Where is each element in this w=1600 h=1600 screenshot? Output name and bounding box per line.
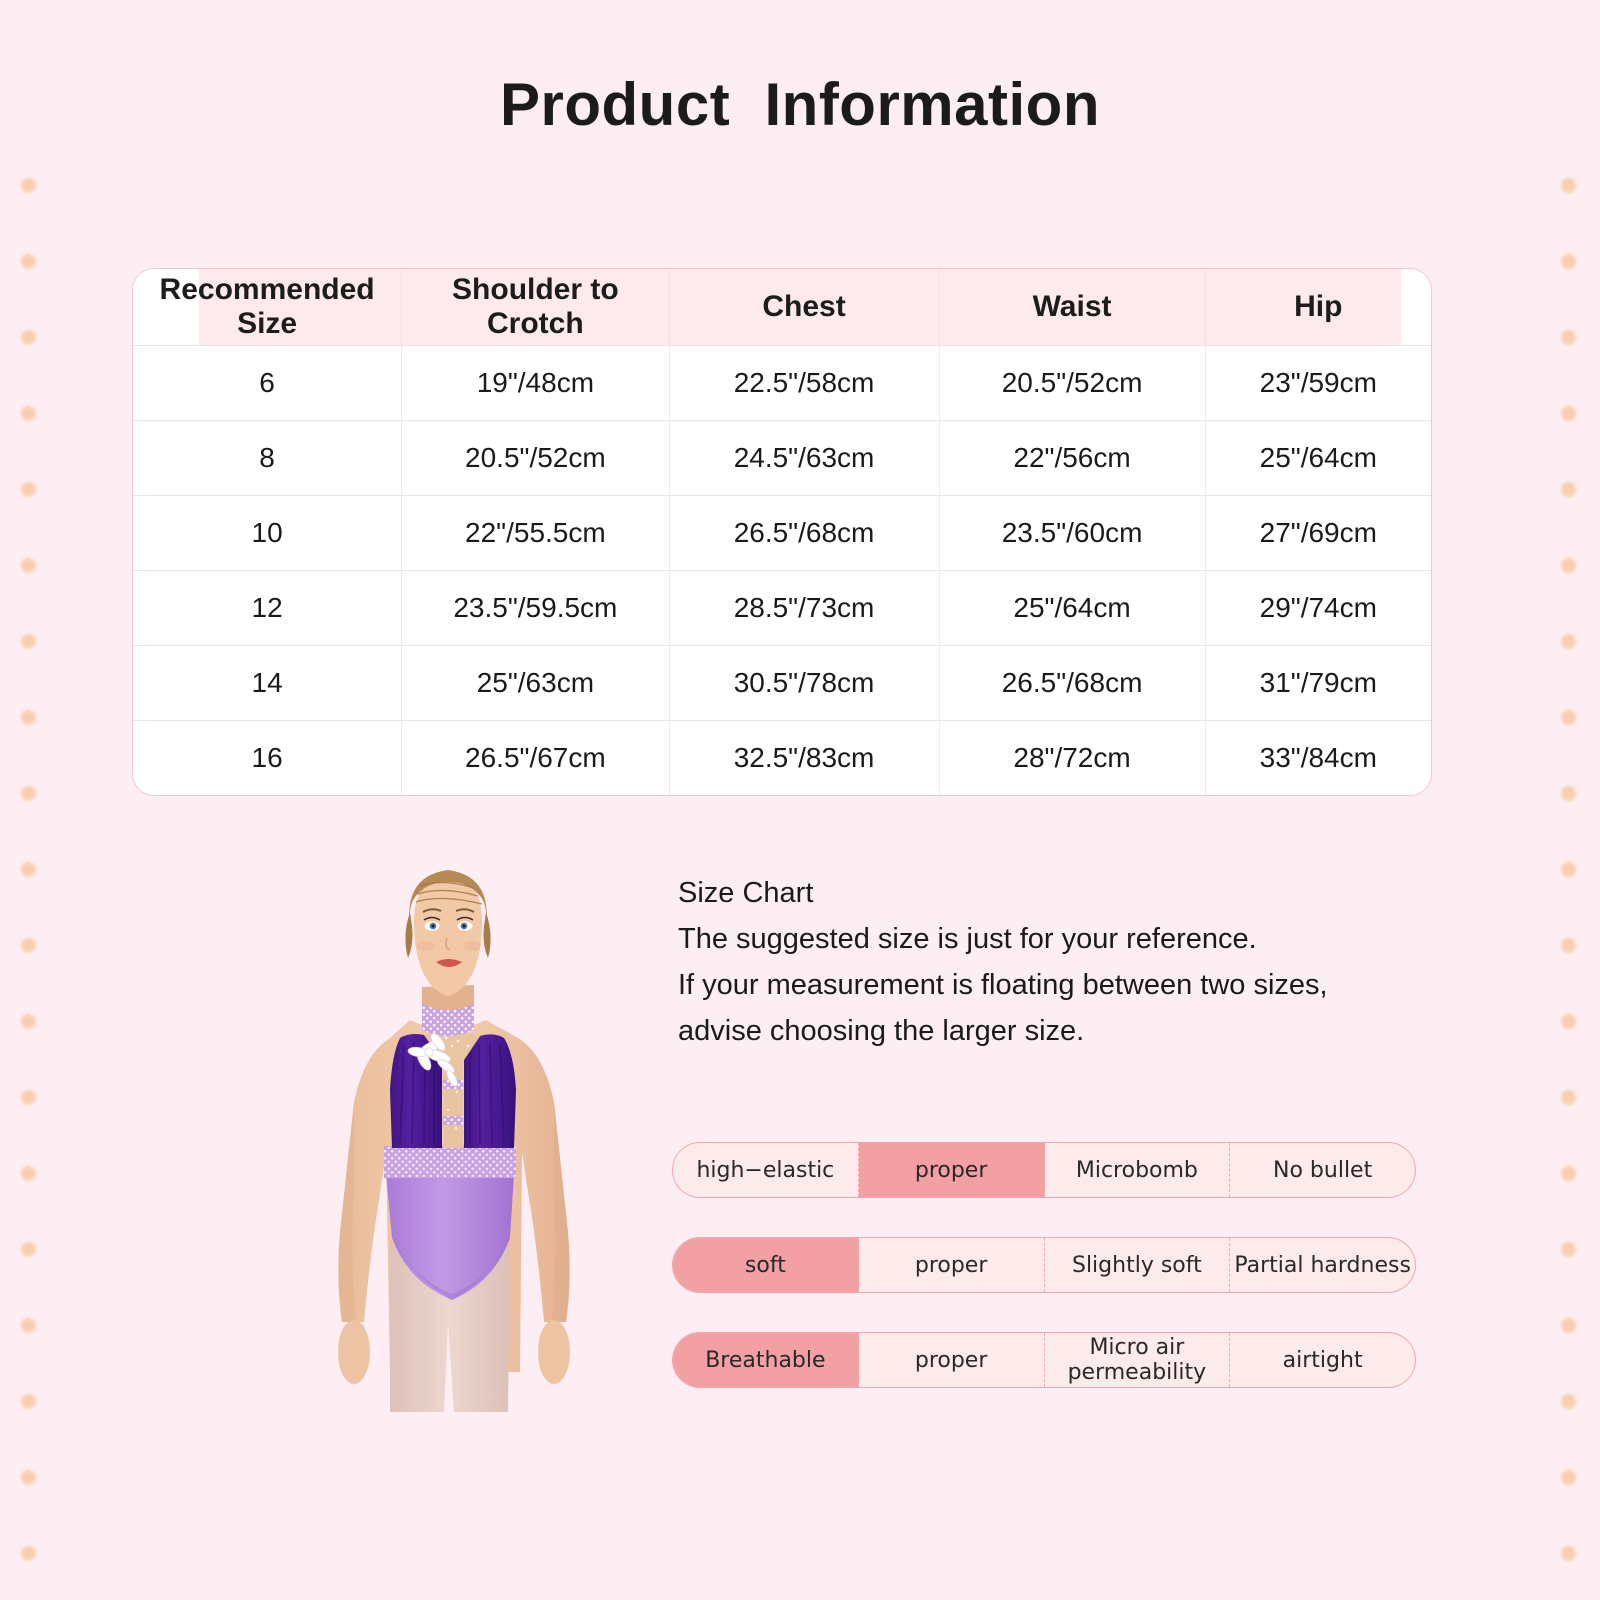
cell-size: 6	[133, 345, 402, 420]
decorative-dot	[21, 1014, 36, 1029]
cell-hip: 23"/59cm	[1205, 345, 1431, 420]
column-header-hip: Hip	[1205, 269, 1431, 345]
cell-shoulder: 19"/48cm	[402, 345, 669, 420]
decorative-dot	[1561, 1470, 1576, 1485]
property-row-elasticity: high−elastic proper Microbomb No bullet	[672, 1142, 1416, 1198]
cell-chest: 22.5"/58cm	[669, 345, 939, 420]
cell-waist: 23.5"/60cm	[939, 495, 1205, 570]
decorative-dot	[21, 558, 36, 573]
size-table: Recommended Size Shoulder to Crotch Ches…	[133, 269, 1431, 795]
cell-hip: 27"/69cm	[1205, 495, 1431, 570]
decorative-dot	[1561, 1546, 1576, 1561]
cell-waist: 25"/64cm	[939, 570, 1205, 645]
cell-shoulder: 26.5"/67cm	[402, 720, 669, 795]
cell-hip: 25"/64cm	[1205, 420, 1431, 495]
decorative-dot-rail-right	[1540, 0, 1600, 1600]
decorative-dot	[1561, 786, 1576, 801]
decorative-dot	[1561, 938, 1576, 953]
size-table-header: Recommended Size Shoulder to Crotch Ches…	[133, 269, 1431, 345]
decorative-dot	[21, 482, 36, 497]
property-segment-microbomb[interactable]: Microbomb	[1045, 1143, 1231, 1197]
decorative-dot	[1561, 558, 1576, 573]
cell-chest: 30.5"/78cm	[669, 645, 939, 720]
model-photo	[282, 852, 622, 1412]
decorative-dot	[1561, 254, 1576, 269]
decorative-dot	[21, 254, 36, 269]
decorative-dot	[21, 1546, 36, 1561]
cell-waist: 22"/56cm	[939, 420, 1205, 495]
cell-chest: 26.5"/68cm	[669, 495, 939, 570]
table-row: 16 26.5"/67cm 32.5"/83cm 28"/72cm 33"/84…	[133, 720, 1431, 795]
decorative-dot	[21, 1470, 36, 1485]
decorative-dot	[1561, 330, 1576, 345]
column-header-recommended-size: Recommended Size	[133, 269, 402, 345]
cell-size: 10	[133, 495, 402, 570]
property-segment-high-elastic[interactable]: high−elastic	[673, 1143, 859, 1197]
decorative-dot-rail-left	[0, 0, 60, 1600]
table-row: 14 25"/63cm 30.5"/78cm 26.5"/68cm 31"/79…	[133, 645, 1431, 720]
cell-hip: 29"/74cm	[1205, 570, 1431, 645]
table-row: 12 23.5"/59.5cm 28.5"/73cm 25"/64cm 29"/…	[133, 570, 1431, 645]
decorative-dot	[21, 406, 36, 421]
cell-shoulder: 25"/63cm	[402, 645, 669, 720]
decorative-dot	[1561, 482, 1576, 497]
property-segment-slightly-soft[interactable]: Slightly soft	[1045, 1238, 1231, 1292]
size-chart-note-line-2: If your measurement is floating between …	[678, 962, 1438, 1008]
property-segment-soft[interactable]: soft	[673, 1238, 859, 1292]
size-table-body: 6 19"/48cm 22.5"/58cm 20.5"/52cm 23"/59c…	[133, 345, 1431, 795]
table-row: 10 22"/55.5cm 26.5"/68cm 23.5"/60cm 27"/…	[133, 495, 1431, 570]
decorative-dot	[21, 1242, 36, 1257]
decorative-dot	[21, 330, 36, 345]
cell-waist: 28"/72cm	[939, 720, 1205, 795]
decorative-dot	[1561, 634, 1576, 649]
property-segment-no-bullet[interactable]: No bullet	[1230, 1143, 1415, 1197]
cell-size: 8	[133, 420, 402, 495]
size-chart-note-line-3: advise choosing the larger size.	[678, 1008, 1438, 1054]
decorative-dot	[21, 862, 36, 877]
size-table-container: Recommended Size Shoulder to Crotch Ches…	[132, 268, 1432, 796]
property-segment-proper[interactable]: proper	[859, 1333, 1045, 1387]
decorative-dot	[1561, 1166, 1576, 1181]
column-header-waist: Waist	[939, 269, 1205, 345]
column-header-shoulder-to-crotch: Shoulder to Crotch	[402, 269, 669, 345]
property-segment-micro-air-permeability[interactable]: Micro air permeability	[1045, 1333, 1231, 1387]
decorative-dot	[21, 178, 36, 193]
decorative-dot	[1561, 1014, 1576, 1029]
table-row: 8 20.5"/52cm 24.5"/63cm 22"/56cm 25"/64c…	[133, 420, 1431, 495]
decorative-dot	[1561, 178, 1576, 193]
size-chart-info: Size Chart The suggested size is just fo…	[678, 870, 1438, 1054]
decorative-dot	[21, 938, 36, 953]
product-information-page: Product Information Recommended Size Sho…	[0, 0, 1600, 1600]
cell-waist: 20.5"/52cm	[939, 345, 1205, 420]
table-header-row: Recommended Size Shoulder to Crotch Ches…	[133, 269, 1431, 345]
property-segment-breathable[interactable]: Breathable	[673, 1333, 859, 1387]
size-chart-note-line-1: The suggested size is just for your refe…	[678, 916, 1438, 962]
cell-chest: 32.5"/83cm	[669, 720, 939, 795]
decorative-dot	[21, 710, 36, 725]
decorative-dot	[21, 1394, 36, 1409]
decorative-dot	[21, 1166, 36, 1181]
column-header-chest: Chest	[669, 269, 939, 345]
cell-size: 14	[133, 645, 402, 720]
cell-size: 16	[133, 720, 402, 795]
decorative-dot	[1561, 710, 1576, 725]
property-segment-proper[interactable]: proper	[859, 1143, 1045, 1197]
decorative-dot	[21, 1090, 36, 1105]
cell-shoulder: 22"/55.5cm	[402, 495, 669, 570]
decorative-dot	[21, 786, 36, 801]
decorative-dot	[1561, 1242, 1576, 1257]
decorative-dot	[1561, 406, 1576, 421]
cell-size: 12	[133, 570, 402, 645]
cell-chest: 28.5"/73cm	[669, 570, 939, 645]
cell-shoulder: 23.5"/59.5cm	[402, 570, 669, 645]
table-row: 6 19"/48cm 22.5"/58cm 20.5"/52cm 23"/59c…	[133, 345, 1431, 420]
property-rating-bars: high−elastic proper Microbomb No bullet …	[672, 1142, 1416, 1427]
property-row-breathability: Breathable proper Micro air permeability…	[672, 1332, 1416, 1388]
cell-hip: 33"/84cm	[1205, 720, 1431, 795]
cell-shoulder: 20.5"/52cm	[402, 420, 669, 495]
cell-hip: 31"/79cm	[1205, 645, 1431, 720]
decorative-dot	[1561, 1318, 1576, 1333]
page-title: Product Information	[0, 70, 1600, 139]
decorative-dot	[21, 1318, 36, 1333]
property-segment-partial-hardness[interactable]: Partial hardness	[1230, 1238, 1415, 1292]
property-segment-proper[interactable]: proper	[859, 1238, 1045, 1292]
decorative-dot	[1561, 1394, 1576, 1409]
decorative-dot	[21, 634, 36, 649]
property-row-softness: soft proper Slightly soft Partial hardne…	[672, 1237, 1416, 1293]
property-segment-airtight[interactable]: airtight	[1230, 1333, 1415, 1387]
decorative-dot	[1561, 862, 1576, 877]
size-chart-heading: Size Chart	[678, 870, 1438, 916]
cell-chest: 24.5"/63cm	[669, 420, 939, 495]
decorative-dot	[1561, 1090, 1576, 1105]
cell-waist: 26.5"/68cm	[939, 645, 1205, 720]
